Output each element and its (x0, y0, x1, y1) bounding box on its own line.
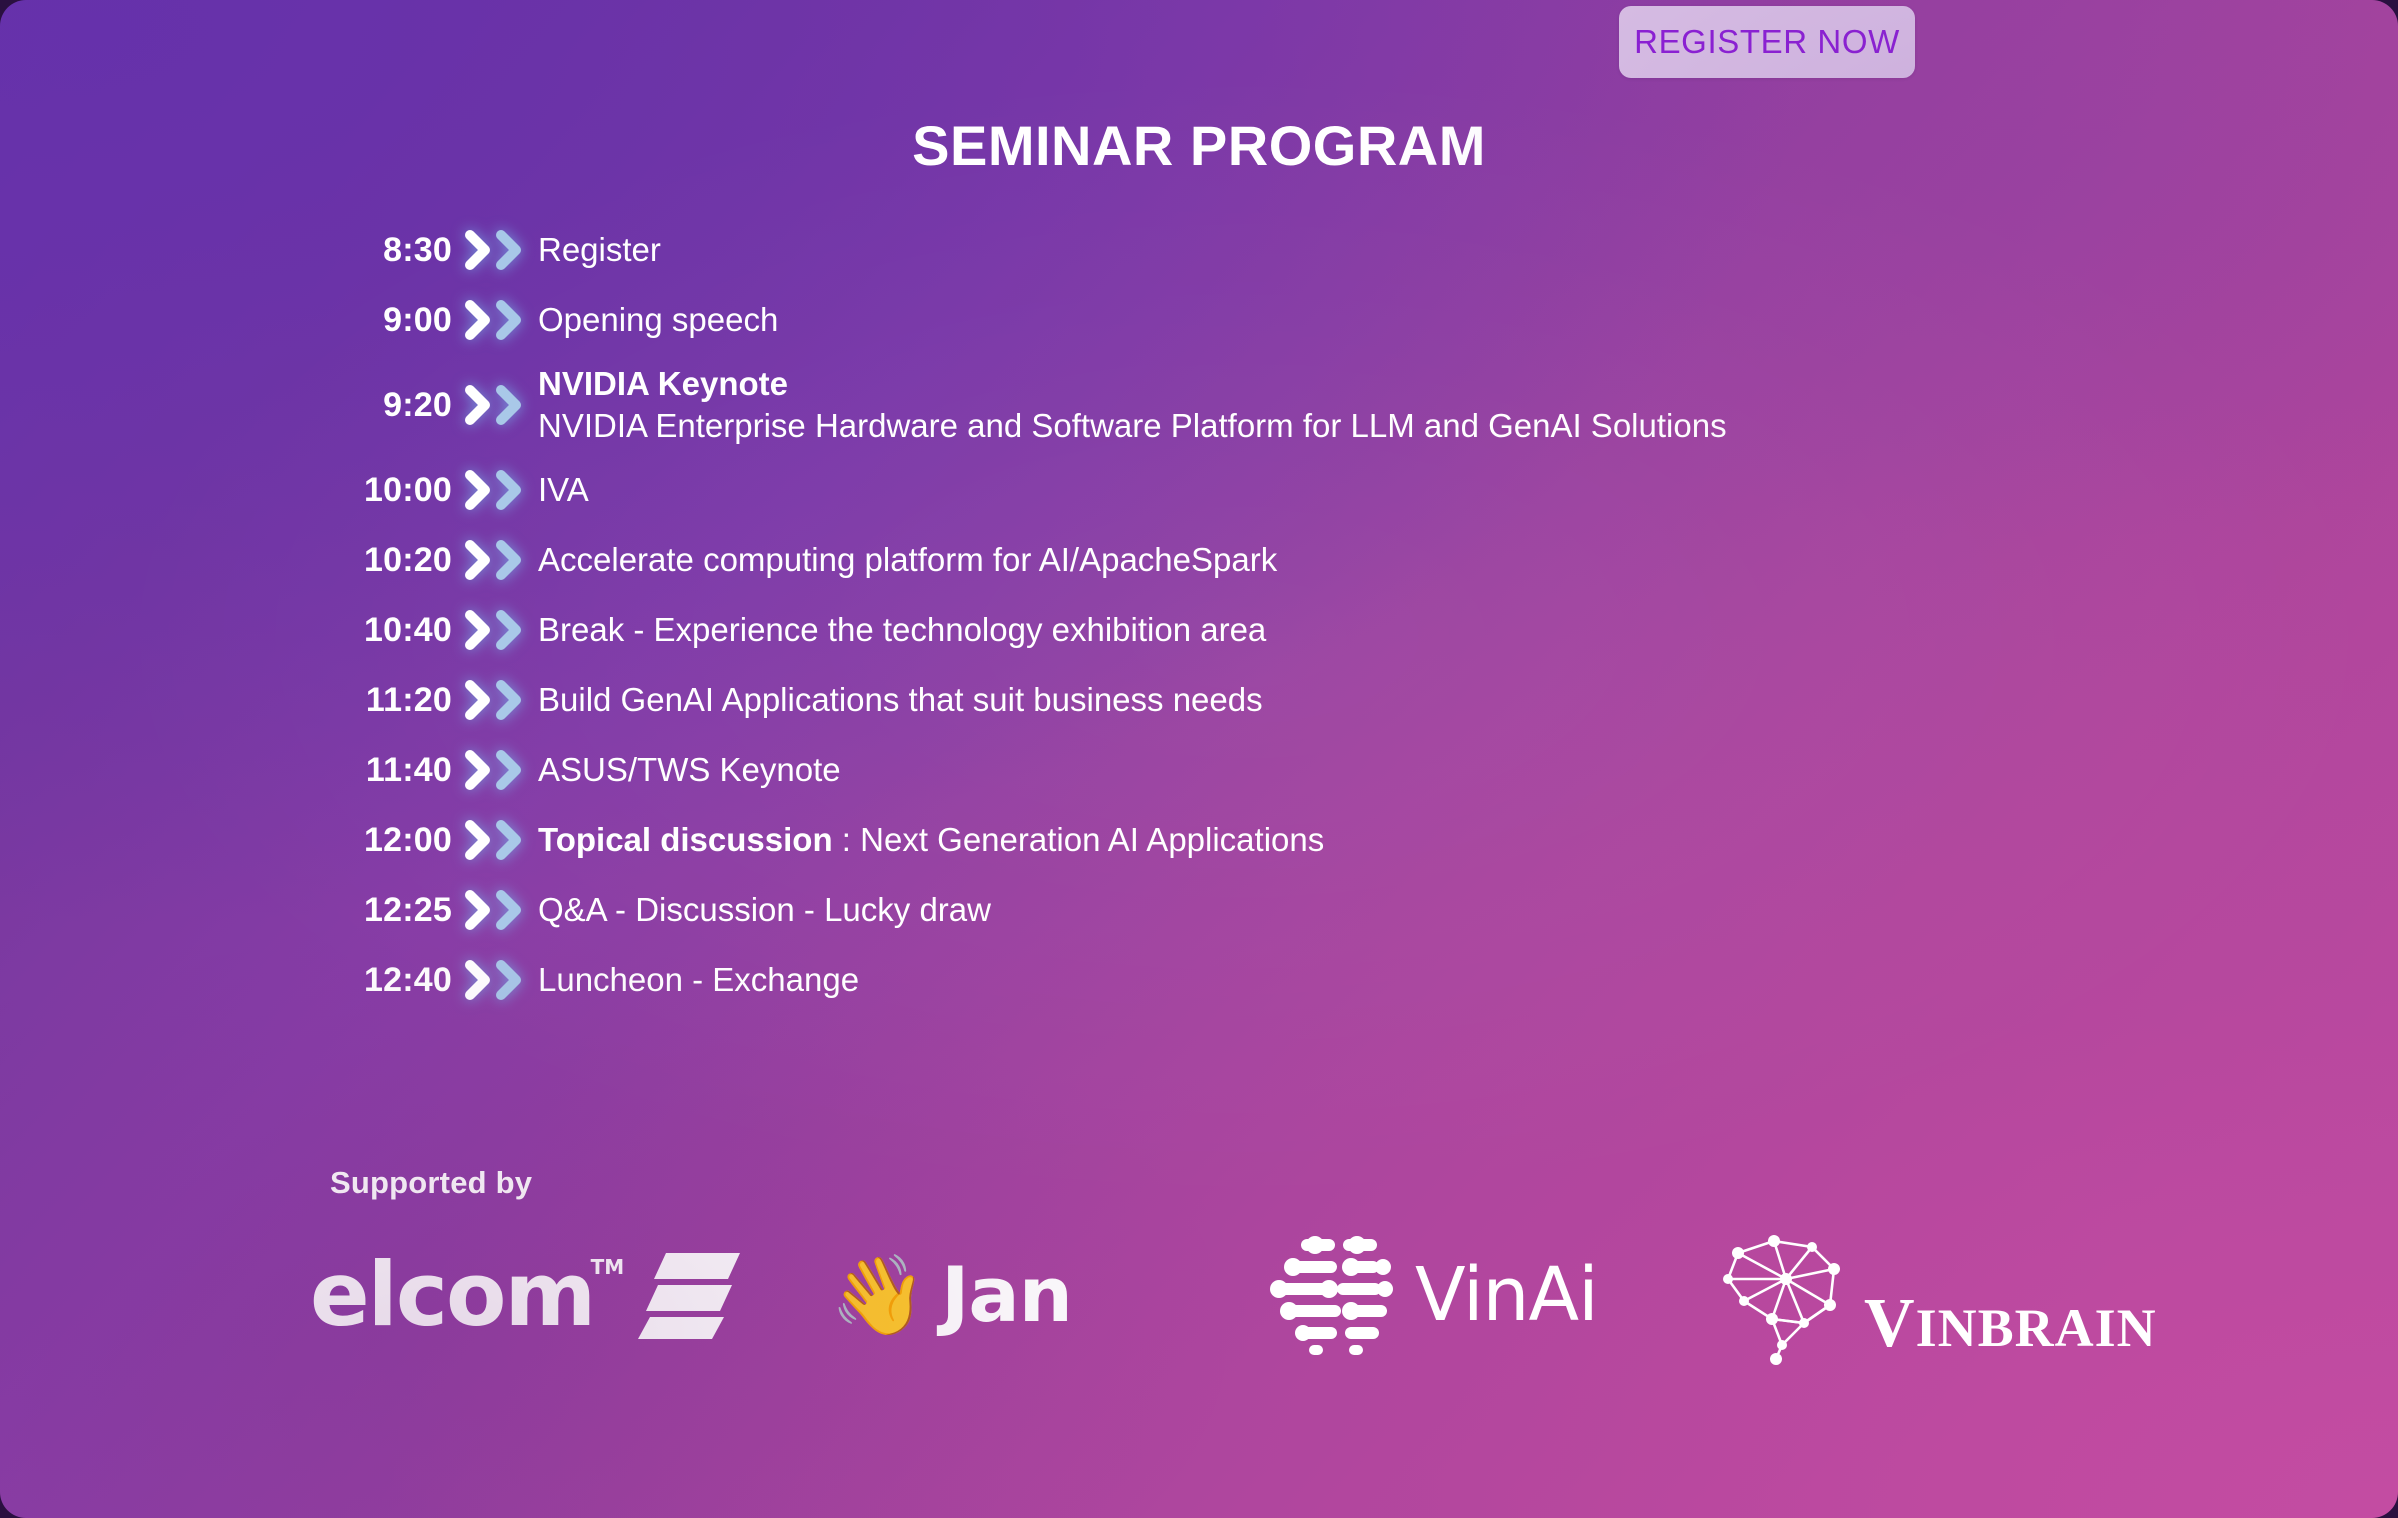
double-chevron-right-icon (452, 230, 538, 270)
vinai-network-mark (1265, 1233, 1397, 1357)
agenda-text: Break - Experience the technology exhibi… (538, 609, 1266, 651)
agenda-time: 8:30 (330, 233, 452, 267)
double-chevron-right-icon (452, 890, 538, 930)
brain-network-icon (1700, 1227, 1890, 1365)
double-chevron-right-icon (452, 750, 538, 790)
agenda-time: 9:00 (330, 303, 452, 337)
elcom-wordmark-text: elcom (310, 1243, 594, 1346)
sponsor-logo-jan: 👋 Jan (830, 1225, 1072, 1365)
double-chevron-right-icon (452, 470, 538, 510)
sponsor-logo-vinbrain: VINBRAIN (1700, 1225, 2157, 1365)
vinbrain-wordmark: VINBRAIN (1864, 1289, 2157, 1359)
agenda-title: NVIDIA Keynote (538, 363, 1727, 405)
agenda-text: Register (538, 229, 661, 271)
seminar-program-slide: REGISTER NOW SEMINAR PROGRAM 8:30 Regist… (0, 0, 2398, 1518)
agenda-text: Build GenAI Applications that suit busin… (538, 679, 1263, 721)
register-now-button[interactable]: REGISTER NOW (1619, 6, 1915, 78)
double-chevron-right-icon (452, 540, 538, 580)
jan-wordmark: Jan (941, 1257, 1072, 1333)
agenda-list: 8:30 Register 9:00 Opening speech 9:20 (330, 215, 2290, 1015)
agenda-row: 12:00 Topical discussion : Next Generati… (330, 805, 2290, 875)
agenda-text: Opening speech (538, 299, 778, 341)
double-chevron-right-icon (452, 385, 538, 425)
supported-by-label: Supported by (330, 1165, 532, 1201)
agenda-subtitle: NVIDIA Enterprise Hardware and Software … (538, 405, 1727, 447)
agenda-time: 11:20 (330, 683, 452, 717)
agenda-row: 10:40 Break - Experience the technology … (330, 595, 2290, 665)
sponsor-logo-vinai: VinAi (1265, 1225, 1598, 1365)
agenda-row: 11:20 Build GenAI Applications that suit… (330, 665, 2290, 735)
agenda-row: 11:40 ASUS/TWS Keynote (330, 735, 2290, 805)
agenda-time: 12:40 (330, 963, 452, 997)
double-chevron-right-icon (452, 680, 538, 720)
agenda-text-rest: : Next Generation AI Applications (833, 821, 1325, 858)
sponsor-logos: elcom TM 👋 Jan (300, 1225, 2180, 1365)
elcom-e-mark (636, 1247, 744, 1343)
agenda-time: 9:20 (330, 388, 452, 422)
agenda-text: IVA (538, 469, 589, 511)
agenda-text: NVIDIA Keynote NVIDIA Enterprise Hardwar… (538, 363, 1727, 447)
agenda-row: 9:00 Opening speech (330, 285, 2290, 355)
agenda-time: 10:40 (330, 613, 452, 647)
agenda-text: Accelerate computing platform for AI/Apa… (538, 539, 1277, 581)
double-chevron-right-icon (452, 820, 538, 860)
agenda-row: 9:20 NVIDIA Keynote NVIDIA Enterprise Ha… (330, 355, 2290, 455)
elcom-wordmark: elcom TM (310, 1251, 594, 1339)
vinbrain-wordmark-rest: INBRAIN (1916, 1298, 2157, 1358)
trademark-symbol: TM (591, 1257, 625, 1277)
double-chevron-right-icon (452, 300, 538, 340)
agenda-time: 11:40 (330, 753, 452, 787)
agenda-bold-prefix: Topical discussion (538, 821, 833, 858)
agenda-text: ASUS/TWS Keynote (538, 749, 841, 791)
agenda-text: Q&A - Discussion - Lucky draw (538, 889, 991, 931)
agenda-time: 12:00 (330, 823, 452, 857)
vinbrain-wordmark-cap: V (1864, 1285, 1916, 1362)
waving-hand-icon: 👋 (830, 1256, 927, 1334)
agenda-time: 10:20 (330, 543, 452, 577)
agenda-text: Luncheon - Exchange (538, 959, 859, 1001)
agenda-row: 8:30 Register (330, 215, 2290, 285)
agenda-row: 10:20 Accelerate computing platform for … (330, 525, 2290, 595)
agenda-row: 12:25 Q&A - Discussion - Lucky draw (330, 875, 2290, 945)
page-title: SEMINAR PROGRAM (0, 118, 2398, 174)
agenda-row: 10:00 IVA (330, 455, 2290, 525)
double-chevron-right-icon (452, 610, 538, 650)
agenda-time: 12:25 (330, 893, 452, 927)
agenda-row: 12:40 Luncheon - Exchange (330, 945, 2290, 1015)
agenda-text: Topical discussion : Next Generation AI … (538, 819, 1324, 861)
vinai-wordmark: VinAi (1415, 1258, 1598, 1332)
agenda-time: 10:00 (330, 473, 452, 507)
double-chevron-right-icon (452, 960, 538, 1000)
sponsor-logo-elcom: elcom TM (310, 1225, 744, 1365)
